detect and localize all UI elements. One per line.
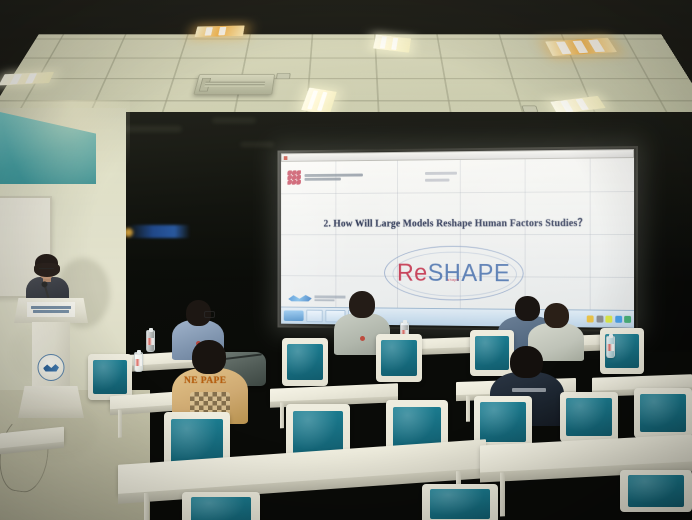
desk-row2-mid [270,383,398,403]
chair-r2-c2[interactable] [282,338,328,386]
podium-institution-emblem [38,354,65,381]
podium-sign [27,302,75,317]
podium-base [18,386,84,418]
water-bottle-1 [146,330,155,352]
bird-emblem-icon [43,363,59,372]
tray-icon[interactable] [596,316,603,323]
wall-light-glow [0,100,130,210]
slide-title: 2. How Will Large Models Reshape Human F… [281,214,634,229]
ceiling-air-conditioner [193,74,275,94]
podium-lectern-top [14,298,88,323]
university-emblem-icon [287,170,301,184]
audience-1-glasses-arm [204,311,215,318]
tray-icon[interactable] [624,316,631,323]
audience-6-shirt-stripe [512,388,546,392]
slide-header-note-2 [425,179,449,182]
audience-2-badge [360,336,365,341]
university-name-text [305,174,363,181]
reshape-suffix: SHAPE [428,259,511,287]
ceiling-light-2 [373,34,411,52]
ceiling-light-5 [301,88,337,115]
water-bottle-5 [606,336,615,358]
taskbar-item[interactable] [306,310,322,323]
audience-member-4: NE PAPE [172,340,248,422]
audience-4-head [192,340,226,374]
audience-4-shirt-text: NE PAPE [184,376,226,386]
chair-r4-c3[interactable] [620,470,692,512]
system-tray[interactable] [587,315,631,322]
chair-r2-c3[interactable] [376,334,422,382]
sponsor-swoosh-icon [288,294,311,302]
water-bottle-4 [134,352,143,372]
presentation-slide[interactable]: 2. How Will Large Models Reshape Human F… [281,158,634,310]
chair-r2-c1[interactable] [88,354,132,400]
reshape-brand-logo: ReSHAPE shape [384,246,524,301]
tray-icon[interactable] [587,315,594,322]
tray-icon[interactable] [605,316,612,323]
audience-6-head [510,346,543,378]
lecture-room-photo: 2. How Will Large Models Reshape Human F… [0,0,692,520]
ceiling-sensor-1 [276,73,291,79]
presenter-glasses [39,268,54,273]
slide-header-note-1 [425,172,457,175]
wall-sign-blue [128,225,190,238]
audience-2-head [349,291,375,318]
chair-r3-c6[interactable] [634,388,692,438]
reshape-subtext: shape [447,277,459,282]
audience-5-head [544,303,569,328]
podium [14,298,88,418]
ceiling-light-warm-3 [545,38,617,56]
slide-university-logo [287,170,362,185]
chair-r3-c5[interactable] [560,392,618,442]
ceiling-light-warm-1 [195,25,245,37]
ceiling-light-4 [0,72,54,86]
chair-r4-c2[interactable] [422,484,498,520]
chair-r4-c1[interactable] [182,492,260,520]
reshape-prefix: Re [397,259,428,286]
tray-icon[interactable] [615,316,622,323]
start-button[interactable] [284,310,304,321]
